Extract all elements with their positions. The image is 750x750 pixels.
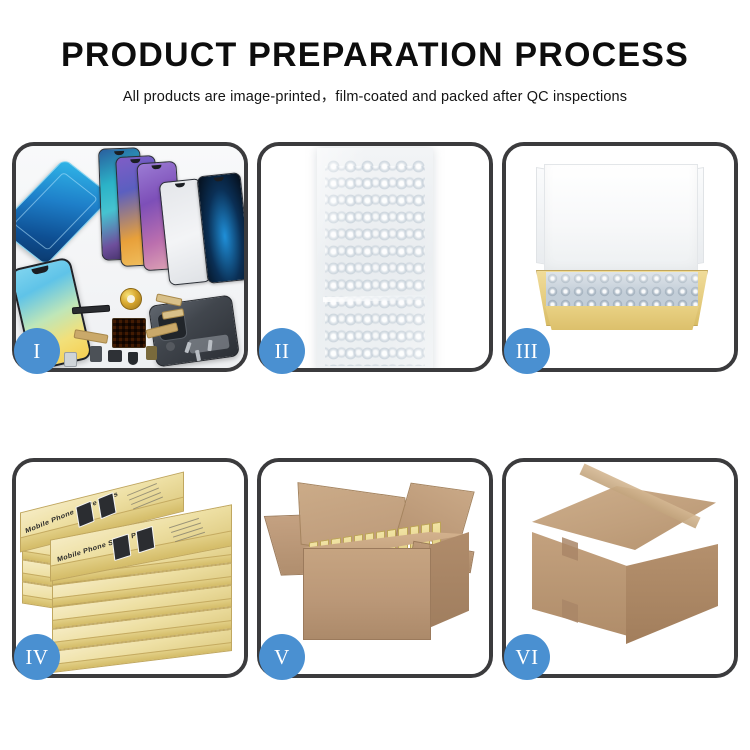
small-part-graphic xyxy=(90,346,102,362)
step-badge-4: IV xyxy=(14,634,60,680)
step-panel-4[interactable]: Mobile Phone Spare Parts Mobile Phone Sp… xyxy=(12,458,248,678)
header: PRODUCT PREPARATION PROCESS All products… xyxy=(0,0,750,106)
carton-front-panel xyxy=(303,548,431,640)
small-part-graphic xyxy=(146,346,157,360)
page-subtitle: All products are image-printed，film-coat… xyxy=(0,85,750,106)
box-front-panel xyxy=(542,306,702,330)
step-panel-3[interactable]: III xyxy=(502,142,738,372)
connector-chip-graphic xyxy=(112,318,146,348)
step-badge-1: I xyxy=(14,328,60,374)
phone-fan-graphic xyxy=(104,154,244,284)
flex-cable-graphic xyxy=(72,305,110,315)
sealed-carton-front xyxy=(532,532,628,636)
product-preparation-infographic: PRODUCT PREPARATION PROCESS All products… xyxy=(0,0,750,750)
step-panel-5[interactable]: V xyxy=(257,458,493,678)
step-badge-2: II xyxy=(259,328,305,374)
steps-grid: I II xyxy=(12,142,738,678)
coil-part-graphic xyxy=(120,288,142,310)
step-badge-3: III xyxy=(504,328,550,374)
small-part-graphic xyxy=(128,352,138,365)
sealed-carton-side xyxy=(626,544,718,644)
step-panel-1[interactable]: I xyxy=(12,142,248,372)
small-part-graphic xyxy=(166,342,175,351)
carton-side-panel xyxy=(429,532,469,628)
step-panel-6[interactable]: VI xyxy=(502,458,738,678)
step-badge-5: V xyxy=(259,634,305,680)
box-lid-graphic xyxy=(544,164,698,276)
contents-gloss xyxy=(546,272,698,308)
step-panel-2[interactable]: II xyxy=(257,142,493,372)
box-stack-graphic: Mobile Phone Spare Parts Mobile Phone Sp… xyxy=(22,476,238,666)
small-part-graphic xyxy=(64,352,77,367)
step-badge-6: VI xyxy=(504,634,550,680)
wrap-gloss xyxy=(317,148,433,368)
bubble-wrap-graphic xyxy=(317,148,433,368)
small-part-graphic xyxy=(108,350,122,362)
page-title: PRODUCT PREPARATION PROCESS xyxy=(0,38,750,74)
